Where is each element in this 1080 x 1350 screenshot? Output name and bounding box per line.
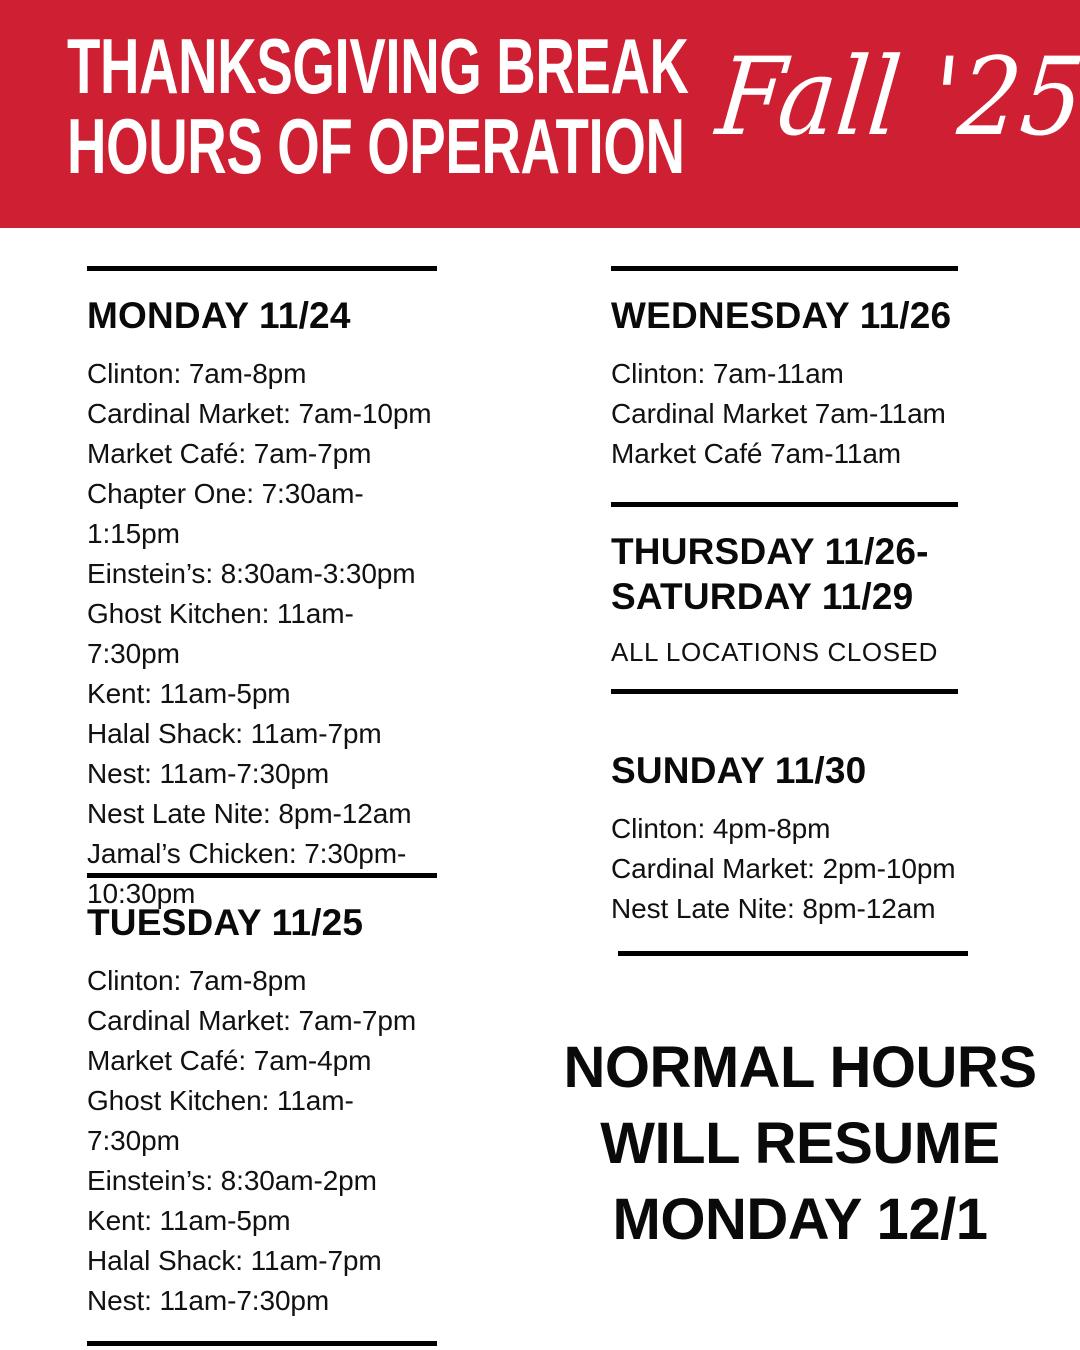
tuesday-heading: TUESDAY 11/25 [87,900,437,945]
wednesday-section: WEDNESDAY 11/26 Clinton: 7am-11am Cardin… [611,266,967,474]
list-item: Ghost Kitchen: 11am-7:30pm [87,1081,437,1161]
list-item: Cardinal Market: 7am-10pm [87,394,437,434]
list-item: Clinton: 7am-8pm [87,961,437,1001]
list-item: Ghost Kitchen: 11am-7:30pm [87,594,437,674]
sunday-hours-list: Clinton: 4pm-8pm Cardinal Market: 2pm-10… [611,809,967,929]
list-item: Market Café: 7am-7pm [87,434,437,474]
divider-rule [611,689,958,694]
list-item: Halal Shack: 11am-7pm [87,714,437,754]
list-item: Clinton: 4pm-8pm [611,809,967,849]
header-banner: THANKSGIVING BREAK HOURS OF OPERATION Fa… [0,0,1080,228]
list-item: Nest Late Nite: 8pm-12am [611,889,967,929]
monday-hours-list: Clinton: 7am-8pm Cardinal Market: 7am-10… [87,354,437,914]
monday-heading: MONDAY 11/24 [87,293,437,338]
list-item: Einstein’s: 8:30am-3:30pm [87,554,437,594]
closing-message: NORMAL HOURS WILL RESUME MONDAY 12/1 [560,1030,1040,1258]
thursday-heading-line-2: SATURDAY 11/29 [611,574,967,619]
title-line-2: HOURS OF OPERATION [67,106,501,186]
list-item: Cardinal Market 7am-11am [611,394,967,434]
wednesday-heading: WEDNESDAY 11/26 [611,293,967,338]
thursday-saturday-section: THURSDAY 11/26- SATURDAY 11/29 ALL LOCAT… [611,502,967,694]
closing-line-1: NORMAL HOURS [560,1030,1040,1106]
wednesday-hours-list: Clinton: 7am-11am Cardinal Market 7am-11… [611,354,967,474]
monday-section: MONDAY 11/24 Clinton: 7am-8pm Cardinal M… [87,266,437,914]
thursday-heading-line-1: THURSDAY 11/26- [611,529,967,574]
list-item: Kent: 11am-5pm [87,674,437,714]
list-item: Nest Late Nite: 8pm-12am [87,794,437,834]
list-item: Cardinal Market: 2pm-10pm [611,849,967,889]
all-locations-closed-note: ALL LOCATIONS CLOSED [611,635,967,669]
list-item: Nest: 11am-7:30pm [87,754,437,794]
list-item: Cardinal Market: 7am-7pm [87,1001,437,1041]
list-item: Clinton: 7am-11am [611,354,967,394]
poster-canvas: THANKSGIVING BREAK HOURS OF OPERATION Fa… [0,0,1080,1350]
list-item: Halal Shack: 11am-7pm [87,1241,437,1281]
list-item: Market Café 7am-11am [611,434,967,474]
list-item: Chapter One: 7:30am-1:15pm [87,474,437,554]
list-item: Nest: 11am-7:30pm [87,1281,437,1321]
closing-line-3: MONDAY 12/1 [560,1182,1040,1258]
list-item: Einstein’s: 8:30am-2pm [87,1161,437,1201]
title-line-1: THANKSGIVING BREAK [67,26,501,106]
tuesday-hours-list: Clinton: 7am-8pm Cardinal Market: 7am-7p… [87,961,437,1321]
closing-line-2: WILL RESUME [560,1106,1040,1182]
semester-script-label: Fall '25 [712,35,1080,158]
list-item: Kent: 11am-5pm [87,1201,437,1241]
divider-rule [87,1341,437,1346]
list-item: Clinton: 7am-8pm [87,354,437,394]
divider-rule [618,951,968,956]
tuesday-section: TUESDAY 11/25 Clinton: 7am-8pm Cardinal … [87,873,437,1346]
poster-title: THANKSGIVING BREAK HOURS OF OPERATION [67,26,687,186]
sunday-heading: SUNDAY 11/30 [611,748,967,793]
sunday-section: SUNDAY 11/30 Clinton: 4pm-8pm Cardinal M… [611,730,967,956]
list-item: Market Café: 7am-4pm [87,1041,437,1081]
